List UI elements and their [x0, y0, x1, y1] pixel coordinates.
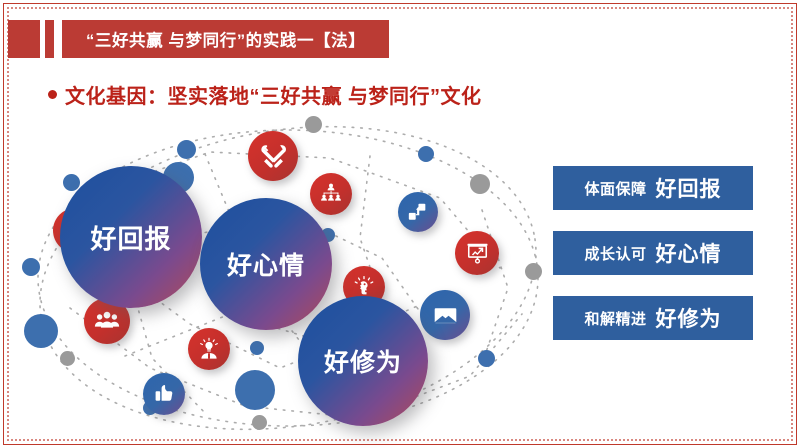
envelope-icon-glyph — [432, 302, 459, 329]
presentation-icon-glyph — [465, 241, 490, 266]
accent-dot — [478, 350, 495, 367]
flow-steps-icon-glyph — [407, 201, 429, 223]
callout-list: 体面保障 好回报 成长认可 好心情 和解精进 好修为 — [553, 166, 753, 361]
accent-dot — [305, 116, 322, 133]
section-subtitle: 文化基因：坚实落地“三好共赢 与梦同行”文化 — [48, 80, 482, 109]
accent-dot — [525, 263, 542, 280]
accent-dot — [252, 415, 267, 430]
hierarchy-icon[interactable] — [310, 173, 352, 215]
flow-steps-icon[interactable] — [398, 192, 438, 232]
title-accent-block-wide — [8, 20, 40, 58]
accent-dot — [470, 174, 490, 194]
thumbs-up-icon-glyph — [152, 382, 176, 406]
presentation-icon[interactable] — [455, 231, 499, 275]
bubble-hao-xin-qing[interactable]: 好心情 — [200, 198, 332, 330]
accent-dot — [250, 341, 264, 355]
title-bar: “三好共赢 与梦同行”的实践一【法】 — [8, 20, 389, 58]
callout-prefix: 和解精进 — [584, 308, 646, 329]
idea-person-icon[interactable] — [188, 328, 230, 370]
idea-person-icon-glyph — [197, 337, 221, 361]
accent-dot — [418, 146, 434, 162]
subtitle-text: 文化基因：坚实落地“三好共赢 与梦同行”文化 — [65, 80, 482, 109]
callout-keyword: 好回报 — [656, 173, 722, 203]
callout-hao-hui-bao[interactable]: 体面保障 好回报 — [553, 166, 753, 210]
callout-prefix: 体面保障 — [584, 178, 646, 199]
accent-dot — [235, 370, 275, 410]
hierarchy-icon-glyph — [319, 182, 343, 206]
callout-hao-xin-qing[interactable]: 成长认可 好心情 — [553, 231, 753, 275]
bubble-label: 好修为 — [324, 343, 402, 379]
accent-dot — [177, 140, 196, 159]
thumbs-up-icon[interactable] — [143, 373, 185, 415]
tools-icon-glyph — [260, 143, 287, 170]
accent-dot — [22, 258, 40, 276]
callout-prefix: 成长认可 — [584, 243, 646, 264]
tools-icon[interactable] — [248, 131, 298, 181]
bubble-hao-hui-bao[interactable]: 好回报 — [60, 166, 202, 308]
accent-dot — [60, 351, 75, 366]
people-group-icon-glyph — [94, 308, 120, 334]
title-banner: “三好共赢 与梦同行”的实践一【法】 — [62, 20, 389, 58]
bubble-label: 好心情 — [227, 246, 305, 282]
callout-hao-xiu-wei[interactable]: 和解精进 好修为 — [553, 296, 753, 340]
bubble-hao-xiu-wei[interactable]: 好修为 — [298, 296, 428, 426]
callout-keyword: 好修为 — [656, 303, 722, 333]
slide-canvas: “三好共赢 与梦同行”的实践一【法】 文化基因：坚实落地“三好共赢 与梦同行”文… — [0, 0, 800, 448]
callout-keyword: 好心情 — [656, 238, 722, 268]
page-title: “三好共赢 与梦同行”的实践一【法】 — [86, 27, 365, 51]
accent-dot — [24, 314, 58, 348]
culture-bubble-network: 好回报 好心情 好修为 — [30, 118, 550, 438]
bubble-label: 好回报 — [90, 219, 171, 256]
envelope-icon[interactable] — [420, 290, 470, 340]
bullet-dot-icon — [48, 90, 57, 99]
title-accent-block-narrow — [45, 20, 54, 58]
